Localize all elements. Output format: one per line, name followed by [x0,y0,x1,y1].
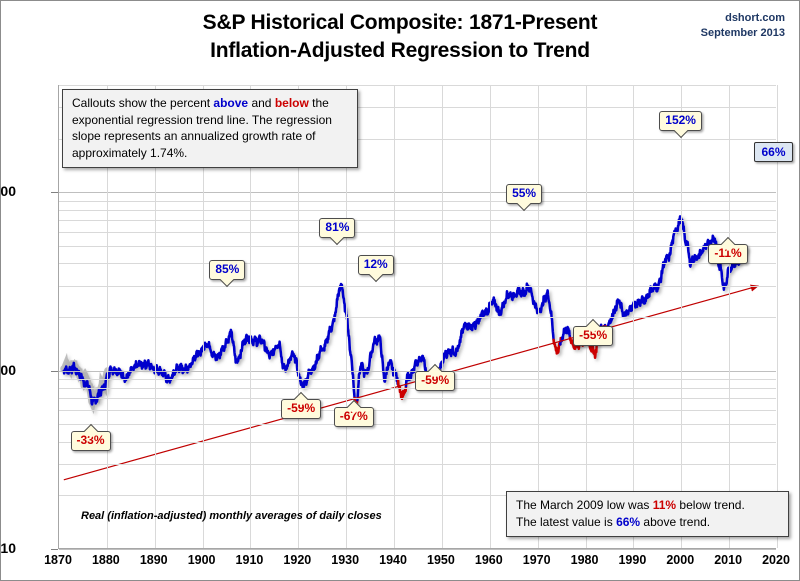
info-seg-2: and [248,96,275,110]
callout-55pct: 55% [506,184,542,204]
y-axis-tick-label: 100 [0,362,16,378]
callout-neg55pct: -55% [573,326,613,346]
gridline-horizontal [59,410,776,411]
gridline-horizontal [59,220,776,221]
footnote: Real (inflation-adjusted) monthly averag… [81,510,382,522]
title-line-2: Inflation-Adjusted Regression to Trend [1,37,799,65]
summary-box: The March 2009 low was 11% below trend. … [506,491,789,537]
gridline-horizontal [59,442,776,443]
info-word-below: below [275,96,309,110]
gridline-vertical [633,85,634,548]
callout-85pct: 85% [209,260,245,280]
gridline-horizontal [59,192,776,193]
series-above-trend [357,336,398,401]
gridline-horizontal [59,424,776,425]
callout-152pct: 152% [659,111,702,131]
gridline-vertical [394,85,395,548]
summary-line-2: The latest value is 66% above trend. [516,514,779,531]
attribution: dshort.com September 2013 [701,11,785,41]
callout-neg11pct: -11% [708,244,747,264]
info-word-above: above [213,96,248,110]
callout-neg59pct: -59% [415,371,455,391]
gridline-vertical [538,85,539,548]
summary-line2-a: The latest value is [516,515,616,529]
summary-line1-a: The March 2009 low was [516,498,653,512]
gridline-horizontal [59,201,776,202]
title-line-1: S&P Historical Composite: 1871-Present [1,9,799,37]
y-axis-tick-label: 10 [0,540,16,556]
series-above-trend [608,216,747,328]
gridline-vertical [490,85,491,548]
chart-container: S&P Historical Composite: 1871-Present I… [0,0,800,581]
y-axis-tick-label: 1000 [0,183,16,199]
gridline-vertical [729,85,730,548]
callout-81pct: 81% [319,218,355,238]
gridline-horizontal [59,286,776,287]
gridline-horizontal [59,549,776,550]
attribution-site: dshort.com [701,11,785,26]
callout-neg59pct: -59% [281,399,321,419]
gridline-horizontal [59,85,776,86]
callout-neg33pct: -33% [71,431,111,451]
summary-line-1: The March 2009 low was 11% below trend. [516,497,779,514]
y-axis-tick-mark [51,371,58,372]
y-axis-tick-mark [51,192,58,193]
y-axis-tick-mark [51,549,58,550]
gridline-horizontal [59,464,776,465]
latest-value-badge: 66% [754,142,792,162]
gridline-horizontal [59,232,776,233]
gridline-vertical [586,85,587,548]
info-callout-box: Callouts show the percent above and belo… [62,89,358,168]
page-title: S&P Historical Composite: 1871-Present I… [1,9,799,65]
summary-line2-pct: 66% [616,515,640,529]
x-axis-tick-label: 2020 [746,553,800,567]
series-above-trend [439,284,554,376]
summary-line1-b: below trend. [676,498,745,512]
gridline-horizontal [59,246,776,247]
gridline-horizontal [59,317,776,318]
callout-neg67pct: -67% [334,407,374,427]
gridline-horizontal [59,263,776,264]
summary-line2-b: above trend. [640,515,710,529]
attribution-date: September 2013 [701,26,785,41]
info-seg-1: Callouts show the percent [72,96,213,110]
gridline-horizontal [59,398,776,399]
gridline-vertical [681,85,682,548]
gridline-horizontal [59,210,776,211]
summary-line1-pct: 11% [653,498,676,512]
gridline-vertical [442,85,443,548]
callout-12pct: 12% [358,255,394,275]
